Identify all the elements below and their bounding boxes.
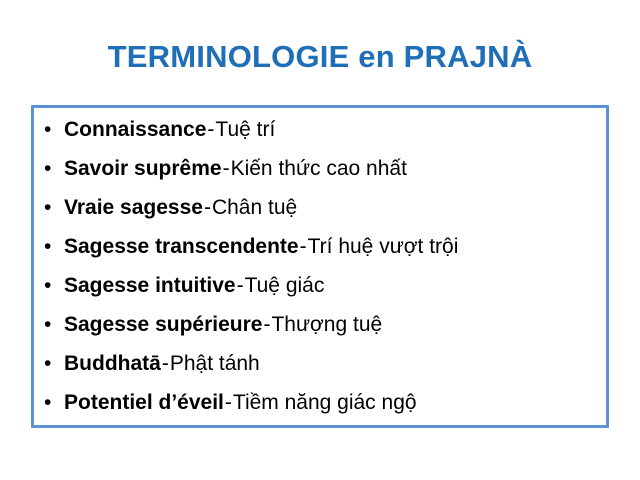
bullet-icon: •: [44, 314, 64, 335]
list-item-separator: -: [222, 157, 231, 181]
list-item-separator: -: [236, 274, 245, 298]
list-item-separator: -: [299, 235, 308, 259]
list-item-term: Connaissance: [64, 118, 206, 142]
list-item: • Connaissance - Tuệ trí: [34, 118, 606, 157]
list-item-gloss: Phật tánh: [170, 352, 260, 376]
list-item-term: Potentiel d’éveil: [64, 391, 224, 415]
list-item: • Vraie sagesse - Chân tuệ: [34, 196, 606, 235]
list-item-gloss: Chân tuệ: [212, 196, 297, 220]
terminology-list: • Connaissance - Tuệ trí • Savoir suprêm…: [34, 108, 606, 430]
list-item: • Sagesse intuitive - Tuệ giác: [34, 274, 606, 313]
list-item-term: Sagesse supérieure: [64, 313, 262, 337]
page-title: TERMINOLOGIE en PRAJNÀ: [0, 38, 640, 76]
list-item-term: Buddhatā: [64, 352, 161, 376]
list-item: • Sagesse supérieure - Thượng tuệ: [34, 313, 606, 352]
list-item-gloss: Tuệ giác: [245, 274, 325, 298]
content-box: • Connaissance - Tuệ trí • Savoir suprêm…: [31, 105, 609, 428]
bullet-icon: •: [44, 353, 64, 374]
list-item-term: Sagesse intuitive: [64, 274, 236, 298]
bullet-icon: •: [44, 275, 64, 296]
list-item-term: Vraie sagesse: [64, 196, 203, 220]
slide: TERMINOLOGIE en PRAJNÀ • Connaissance - …: [0, 0, 640, 480]
list-item-separator: -: [224, 391, 233, 415]
list-item-gloss: Trí huệ vượt trội: [308, 235, 459, 259]
list-item-term: Savoir suprême: [64, 157, 222, 181]
list-item-gloss: Thượng tuệ: [271, 313, 382, 337]
list-item-separator: -: [206, 118, 215, 142]
list-item-separator: -: [161, 352, 170, 376]
list-item-separator: -: [262, 313, 271, 337]
list-item-gloss: Kiến thức cao nhất: [231, 157, 407, 181]
list-item-gloss: Tiềm năng giác ngộ: [233, 391, 417, 415]
list-item: • Sagesse transcendente - Trí huệ vượt t…: [34, 235, 606, 274]
list-item-separator: -: [203, 196, 212, 220]
bullet-icon: •: [44, 197, 64, 218]
list-item-gloss: Tuệ trí: [215, 118, 275, 142]
bullet-icon: •: [44, 119, 64, 140]
list-item: • Potentiel d’éveil - Tiềm năng giác ngộ: [34, 391, 606, 430]
bullet-icon: •: [44, 158, 64, 179]
list-item: • Buddhatā - Phật tánh: [34, 352, 606, 391]
bullet-icon: •: [44, 392, 64, 413]
bullet-icon: •: [44, 236, 64, 257]
list-item: • Savoir suprême - Kiến thức cao nhất: [34, 157, 606, 196]
list-item-term: Sagesse transcendente: [64, 235, 299, 259]
